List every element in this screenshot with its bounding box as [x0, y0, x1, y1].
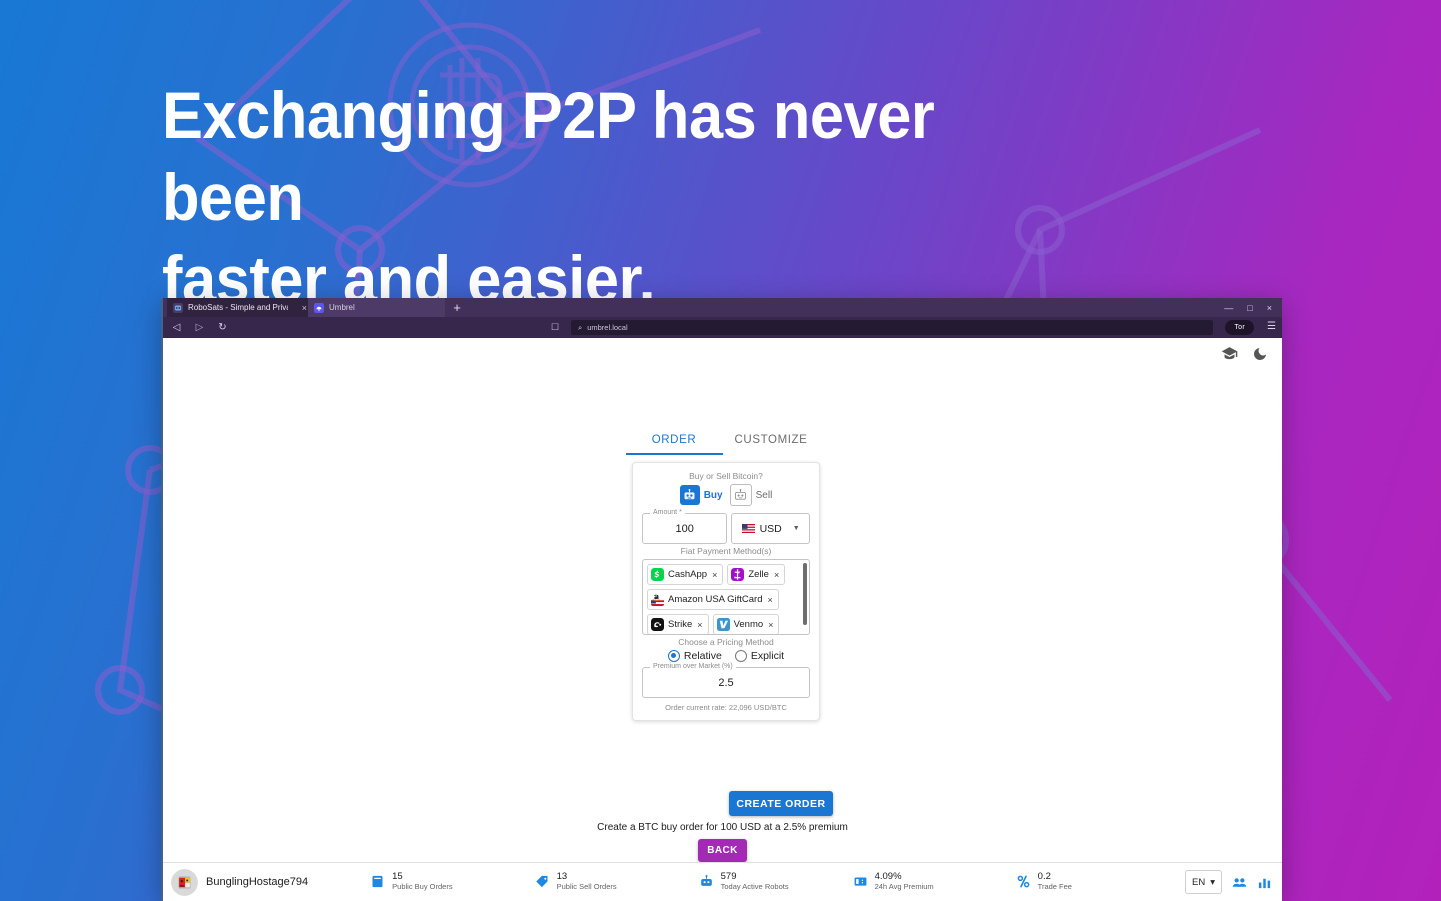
pricing-method-label: Choose a Pricing Method — [642, 637, 810, 647]
community-icon[interactable] — [1231, 874, 1248, 891]
order-summary-text: Create a BTC buy order for 100 USD at a … — [163, 822, 1282, 833]
amount-currency-row: Amount * 100 — [642, 513, 810, 544]
browser-tab-title: Umbrel — [329, 303, 355, 312]
app-tabs: ORDER CUSTOMIZE — [163, 434, 1282, 455]
amount-field[interactable]: Amount * 100 — [642, 513, 727, 544]
stat-label: Today Active Robots — [721, 883, 789, 892]
browser-window: RoboSats - Simple and Private Bit × Umbr… — [161, 298, 1282, 901]
robot-icon — [699, 874, 714, 889]
book-icon — [370, 874, 385, 889]
stat-24h-avg-premium: 4.09% 24h Avg Premium — [853, 872, 934, 892]
sell-robot-icon-box — [730, 484, 752, 506]
graduation-cap-icon[interactable] — [1221, 345, 1238, 362]
avatar[interactable] — [171, 869, 198, 896]
strike-icon — [651, 618, 664, 631]
back-icon[interactable]: ◁ — [171, 323, 182, 333]
bookmark-icon[interactable]: ☐ — [551, 322, 559, 333]
amazon-icon — [651, 593, 664, 606]
banknote-icon — [853, 874, 868, 889]
remove-chip-icon[interactable]: × — [768, 620, 773, 630]
cashapp-icon — [651, 568, 664, 581]
payment-chip-strike[interactable]: Strike × — [647, 614, 709, 635]
us-flag-icon — [742, 524, 755, 533]
remove-chip-icon[interactable]: × — [697, 620, 702, 630]
payment-chip-label: Amazon USA GiftCard — [668, 594, 763, 605]
language-value: EN — [1192, 877, 1205, 888]
premium-field[interactable]: Premium over Market (%) 2.5 — [642, 667, 810, 698]
tab-customize-label: CUSTOMIZE — [735, 434, 808, 446]
radio-relative-icon[interactable] — [668, 650, 680, 662]
tab-customize[interactable]: CUSTOMIZE — [723, 434, 820, 455]
reload-icon[interactable]: ↻ — [217, 323, 228, 333]
pricing-option-relative-label: Relative — [684, 650, 722, 662]
app-header-icons — [1221, 345, 1268, 362]
tor-badge[interactable]: Tor — [1225, 320, 1254, 335]
buy-label: Buy — [704, 490, 723, 501]
remove-chip-icon[interactable]: × — [774, 570, 779, 580]
language-selector[interactable]: EN ▾ — [1185, 870, 1222, 894]
currency-select[interactable]: USD ▼ — [731, 513, 810, 544]
pricing-method-radios: Relative Explicit — [642, 650, 810, 662]
stat-trade-fee: 0.2 Trade Fee — [1016, 872, 1072, 892]
sell-robot-icon — [733, 488, 748, 503]
minimize-icon[interactable]: — — [1224, 303, 1233, 313]
dark-mode-moon-icon[interactable] — [1252, 346, 1268, 362]
tab-close-icon[interactable]: × — [302, 303, 307, 313]
sell-option[interactable]: Sell — [730, 484, 773, 506]
premium-field-label: Premium over Market (%) — [650, 663, 736, 670]
payment-chip-amazon[interactable]: Amazon USA GiftCard × — [647, 589, 779, 610]
new-tab-button[interactable]: + — [445, 298, 469, 317]
payment-chip-zelle[interactable]: Zelle × — [727, 564, 785, 585]
buy-robot-icon — [682, 488, 697, 503]
screenshot-root: Exchanging P2P has never been faster and… — [0, 0, 1441, 901]
pricing-option-explicit[interactable]: Explicit — [735, 650, 784, 662]
payment-chip-label: Zelle — [748, 569, 769, 580]
stat-label: Public Sell Orders — [557, 883, 617, 892]
browser-tab-title: RoboSats - Simple and Private Bit — [188, 303, 288, 312]
stat-public-buy-orders: 15 Public Buy Orders — [370, 872, 452, 892]
status-bar: BunglingHostage794 15 Public Buy Orders — [163, 862, 1282, 901]
payment-method-chips: CashApp × Zelle × — [647, 564, 805, 635]
create-order-button[interactable]: CREATE ORDER — [729, 791, 833, 816]
back-button[interactable]: BACK — [698, 839, 747, 862]
payment-chip-venmo[interactable]: Venmo × — [713, 614, 780, 635]
premium-field-value: 2.5 — [643, 668, 809, 697]
browser-tab-umbrel[interactable]: Umbrel — [308, 298, 445, 317]
payment-chip-label: Strike — [668, 619, 692, 630]
forward-icon[interactable]: ▷ — [194, 323, 205, 333]
payment-methods-box[interactable]: CashApp × Zelle × — [642, 559, 810, 635]
remove-chip-icon[interactable]: × — [768, 595, 773, 605]
amount-field-value: 100 — [643, 514, 726, 543]
payment-chip-label: Venmo — [734, 619, 764, 630]
remove-chip-icon[interactable]: × — [712, 570, 717, 580]
pricing-option-relative[interactable]: Relative — [668, 650, 722, 662]
close-window-icon[interactable]: × — [1267, 303, 1272, 313]
window-controls: — □ × — [1152, 298, 1282, 317]
sell-label: Sell — [756, 490, 773, 501]
amount-field-label: Amount * — [650, 509, 685, 516]
stat-label: 24h Avg Premium — [875, 883, 934, 892]
payment-methods-scrollbar[interactable] — [803, 563, 807, 625]
umbrel-favicon — [314, 303, 324, 313]
stats-chart-icon[interactable] — [1257, 875, 1272, 890]
search-icon: ⌕ — [578, 323, 582, 333]
radio-explicit-icon[interactable] — [735, 650, 747, 662]
current-rate-note: Order current rate: 22,096 USD/BTC — [642, 703, 810, 712]
venmo-icon — [717, 618, 730, 631]
payment-methods-label: Fiat Payment Method(s) — [642, 546, 810, 556]
stat-public-sell-orders: 13 Public Sell Orders — [535, 872, 617, 892]
pricing-option-explicit-label: Explicit — [751, 650, 784, 662]
tab-order-label: ORDER — [652, 434, 697, 446]
browser-navbar: ◁ ▷ ↻ ☐ ⌕ umbrel.local Tor ☰ — [163, 317, 1282, 338]
stat-label: Trade Fee — [1038, 883, 1072, 892]
browser-tab-robosats[interactable]: RoboSats - Simple and Private Bit × — [167, 298, 313, 317]
stat-label: Public Buy Orders — [392, 883, 452, 892]
tab-order[interactable]: ORDER — [626, 434, 723, 455]
chevron-down-icon: ▼ — [793, 525, 800, 532]
browser-menu-icon[interactable]: ☰ — [1267, 321, 1276, 332]
payment-chip-label: CashApp — [668, 569, 707, 580]
buy-option[interactable]: Buy — [680, 485, 723, 505]
app-page: ORDER CUSTOMIZE Buy or Sell Bitcoin? — [163, 338, 1282, 901]
tag-icon — [535, 874, 550, 889]
order-form-card: Buy or Sell Bitcoin? — [632, 462, 820, 721]
browser-tabstrip: RoboSats - Simple and Private Bit × Umbr… — [163, 298, 1282, 317]
address-bar[interactable]: ⌕ umbrel.local — [571, 320, 1213, 335]
payment-chip-cashapp[interactable]: CashApp × — [647, 564, 723, 585]
currency-value: USD — [760, 523, 782, 535]
maximize-icon[interactable]: □ — [1247, 303, 1252, 313]
percent-icon — [1016, 874, 1031, 889]
statusbar-end-icons — [1231, 874, 1272, 891]
robosats-favicon — [173, 303, 183, 313]
buy-sell-question: Buy or Sell Bitcoin? — [642, 471, 810, 481]
buy-robot-icon-box — [680, 485, 700, 505]
stat-today-active-robots: 579 Today Active Robots — [699, 872, 789, 892]
promo-headline: Exchanging P2P has never been faster and… — [162, 74, 1092, 320]
zelle-icon — [731, 568, 744, 581]
chevron-down-icon: ▾ — [1210, 877, 1215, 888]
address-bar-text: umbrel.local — [587, 323, 627, 332]
buy-sell-toggle: Buy Sell — [642, 484, 810, 506]
robot-nickname: BunglingHostage794 — [206, 876, 308, 888]
